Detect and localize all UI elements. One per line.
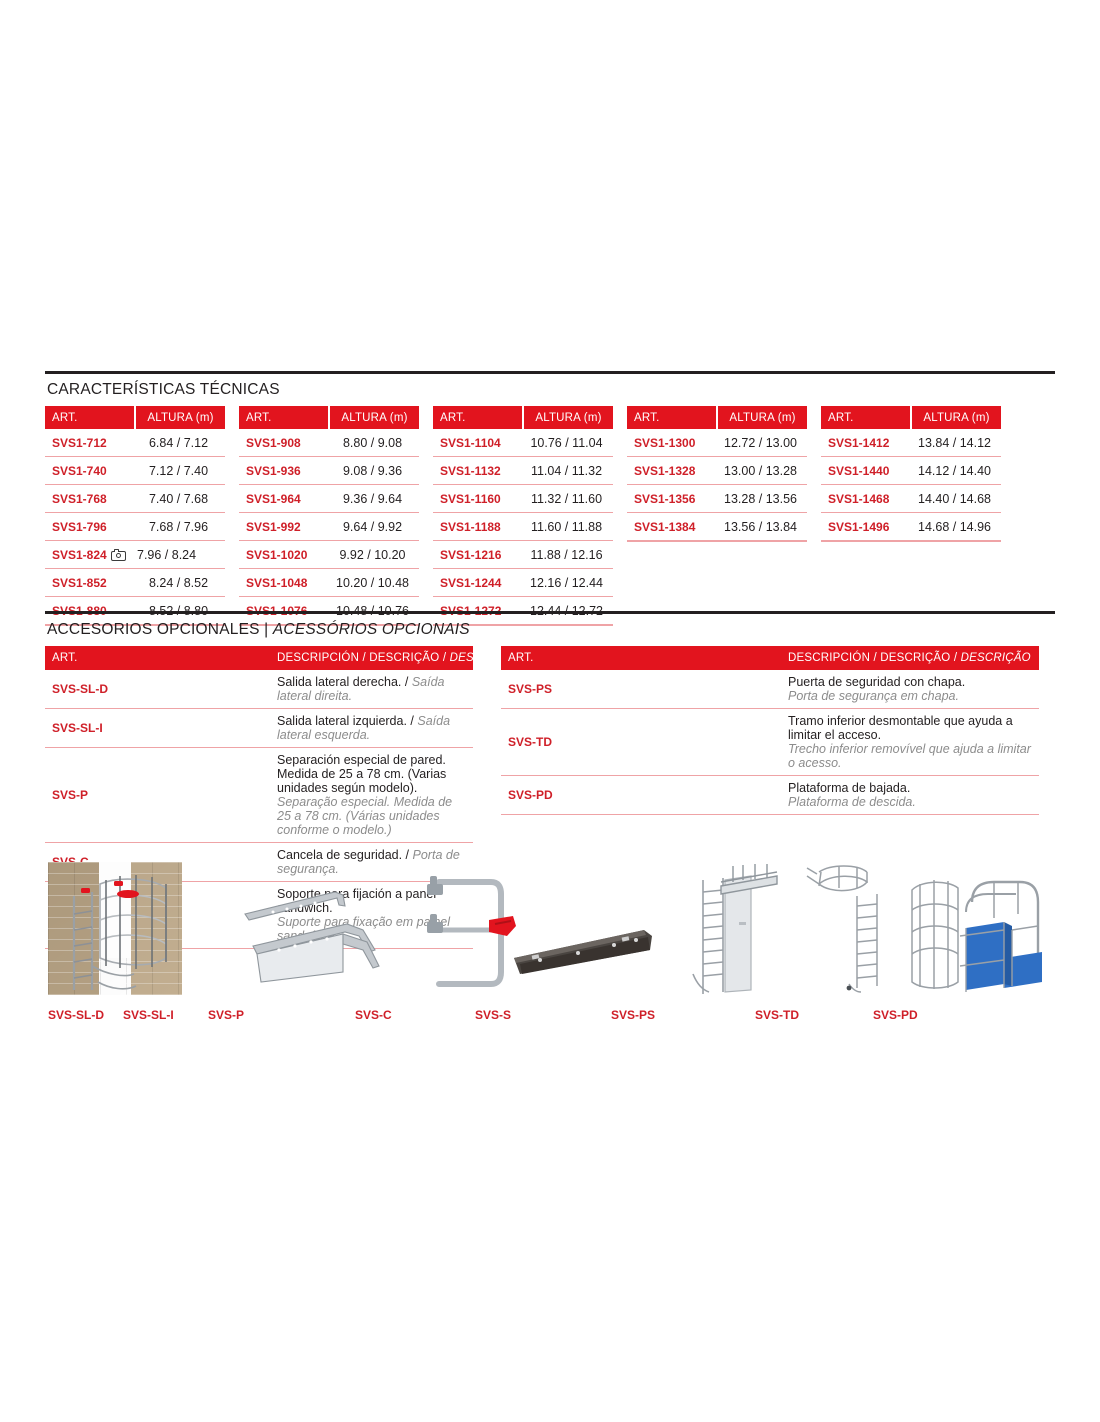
col-header-art: ART. — [45, 406, 135, 429]
caption-svs-ps: SVS-PS — [611, 1008, 655, 1022]
table-row: SVS1-1384 13.56 / 13.84 — [627, 513, 807, 542]
table-row: SVS1-1496 14.68 / 14.96 — [821, 513, 1001, 542]
table-header-row: ART. ALTURA (m) — [239, 406, 419, 429]
table-row: SVS1-1468 14.40 / 14.68 — [821, 485, 1001, 513]
table-header-row: ART. ALTURA (m) — [45, 406, 225, 429]
table-row: SVS1-1328 13.00 / 13.28 — [627, 457, 807, 485]
cell-art: SVS1-964 — [239, 485, 329, 513]
table-row: SVS1-964 9.36 / 9.64 — [239, 485, 419, 513]
cell-description: Separación especial de pared. Medida de … — [259, 748, 473, 843]
cell-art: SVS1-1048 — [239, 569, 329, 597]
caption-svs-c: SVS-C — [355, 1008, 392, 1022]
cell-altura: 12.72 / 13.00 — [717, 429, 807, 457]
cell-art: SVS-PS — [501, 670, 770, 709]
col-header-altura: ALTURA (m) — [717, 406, 807, 429]
figure-side-exit-photo — [48, 862, 182, 995]
cell-art: SVS1-1496 — [821, 513, 911, 542]
figure-captions-row: SVS-SL-D SVS-SL-I SVS-P SVS-C SVS-S SVS-… — [45, 1008, 1055, 1032]
technical-specs-section: CARACTERÍSTICAS TÉCNICAS ART. ALTURA (m)… — [45, 371, 1055, 626]
cell-altura: 13.84 / 14.12 — [911, 429, 1001, 457]
table-row: SVS1-1160 11.32 / 11.60 — [433, 485, 613, 513]
cell-art: SVS1-936 — [239, 457, 329, 485]
figure-wall-spacer — [239, 884, 389, 994]
cell-art: SVS1-1132 — [433, 457, 523, 485]
figure-sandwich-panel-bracket — [510, 924, 655, 974]
cell-art: SVS1-768 — [45, 485, 135, 513]
cage-ladder-illustration — [48, 862, 182, 995]
cell-altura: 7.96 / 8.24 — [135, 541, 225, 569]
cell-description: Salida lateral izquierda. / Saída latera… — [259, 709, 473, 748]
table-header-row: ART. ALTURA (m) — [433, 406, 613, 429]
caption-svs-pd: SVS-PD — [873, 1008, 918, 1022]
col-header-art: ART. — [501, 646, 770, 670]
table-row: SVS1-1048 10.20 / 10.48 — [239, 569, 419, 597]
cell-art: SVS1-1104 — [433, 429, 523, 457]
camera-icon — [111, 549, 126, 561]
col-header-art: ART. — [627, 406, 717, 429]
table-header-row: ART. ALTURA (m) — [821, 406, 1001, 429]
cell-art: SVS1-1188 — [433, 513, 523, 541]
cell-art-with-icon: SVS1-824 — [45, 541, 135, 569]
table-row: SVS-PD Plataforma de bajada.Plataforma d… — [501, 776, 1039, 815]
cell-altura: 9.64 / 9.92 — [329, 513, 419, 541]
table-row: SVS1-740 7.12 / 7.40 — [45, 457, 225, 485]
cell-altura: 8.24 / 8.52 — [135, 569, 225, 597]
table-row: SVS1-1412 13.84 / 14.12 — [821, 429, 1001, 457]
cell-art: SVS1-1356 — [627, 485, 717, 513]
cell-description: Salida lateral derecha. / Saída lateral … — [259, 670, 473, 709]
cell-art: SVS1-1468 — [821, 485, 911, 513]
cell-altura: 11.60 / 11.88 — [523, 513, 613, 541]
table-row: SVS1-768 7.40 / 7.68 — [45, 485, 225, 513]
spec-table-5: ART. ALTURA (m) SVS1-1412 13.84 / 14.12 … — [821, 406, 1001, 542]
technical-specs-title: CARACTERÍSTICAS TÉCNICAS — [45, 374, 1055, 406]
cell-art: SVS-TD — [501, 709, 770, 776]
table-row: SVS1-1020 9.92 / 10.20 — [239, 541, 419, 569]
col-header-altura: ALTURA (m) — [329, 406, 419, 429]
cell-art: SVS1-1216 — [433, 541, 523, 569]
table-row: SVS1-1300 12.72 / 13.00 — [627, 429, 807, 457]
cell-art: SVS-SL-D — [45, 670, 259, 709]
spec-table-2: ART. ALTURA (m) SVS1-908 8.80 / 9.08 SVS… — [239, 406, 419, 626]
cell-altura: 7.40 / 7.68 — [135, 485, 225, 513]
cell-art: SVS1-824 — [52, 548, 107, 562]
table-row: SVS-TD Tramo inferior desmontable que ay… — [501, 709, 1039, 776]
cell-art: SVS1-1020 — [239, 541, 329, 569]
figure-safety-gate — [417, 868, 517, 998]
cell-altura: 9.08 / 9.36 — [329, 457, 419, 485]
figure-safety-door-plate — [681, 862, 791, 1002]
table-header-row: ART. ALTURA (m) — [627, 406, 807, 429]
col-header-descripcion: DESCRIPCIÓN / DESCRIÇÃO / DESCRIÇÃO — [770, 646, 1039, 670]
cell-art: SVS1-1440 — [821, 457, 911, 485]
cell-art: SVS1-712 — [45, 429, 135, 457]
table-header-row: ART. DESCRIPCIÓN / DESCRIÇÃO / DESCRIÇÃO — [501, 646, 1039, 670]
caption-svs-p: SVS-P — [208, 1008, 244, 1022]
col-header-art: ART. — [433, 406, 523, 429]
cell-altura: 10.20 / 10.48 — [329, 569, 419, 597]
cell-description: Puerta de seguridad con chapa.Porta de s… — [770, 670, 1039, 709]
cell-altura: 13.28 / 13.56 — [717, 485, 807, 513]
cell-altura: 11.04 / 11.32 — [523, 457, 613, 485]
col-header-art: ART. — [239, 406, 329, 429]
table-row-with-photo: SVS1-824 7.96 / 8.24 — [45, 541, 225, 569]
cell-altura: 14.12 / 14.40 — [911, 457, 1001, 485]
cell-altura: 11.88 / 12.16 — [523, 541, 613, 569]
cell-altura: 14.40 / 14.68 — [911, 485, 1001, 513]
caption-svs-td: SVS-TD — [755, 1008, 799, 1022]
caption-svs-s: SVS-S — [475, 1008, 511, 1022]
cell-altura: 6.84 / 7.12 — [135, 429, 225, 457]
table-row: SVS1-1188 11.60 / 11.88 — [433, 513, 613, 541]
accessories-table-right: ART. DESCRIPCIÓN / DESCRIÇÃO / DESCRIÇÃO… — [501, 646, 1039, 815]
accessories-title: ACCESORIOS OPCIONALES | ACESSÓRIOS OPCIO… — [45, 614, 1055, 646]
cell-altura: 8.80 / 9.08 — [329, 429, 419, 457]
cell-art: SVS1-1160 — [433, 485, 523, 513]
cell-art: SVS1-992 — [239, 513, 329, 541]
accessories-title-separator: | — [260, 621, 273, 638]
cell-art: SVS-SL-I — [45, 709, 259, 748]
table-row: SVS1-936 9.08 / 9.36 — [239, 457, 419, 485]
cell-art: SVS1-1384 — [627, 513, 717, 542]
cell-altura: 13.56 / 13.84 — [717, 513, 807, 542]
figure-removable-lower-section — [805, 862, 895, 1002]
col-header-altura: ALTURA (m) — [135, 406, 225, 429]
cell-altura: 10.76 / 11.04 — [523, 429, 613, 457]
col-header-descripcion: DESCRIPCIÓN / DESCRIÇÃO / DESCRIÇÃO — [259, 646, 473, 670]
cell-art: SVS1-1300 — [627, 429, 717, 457]
table-row: SVS1-1216 11.88 / 12.16 — [433, 541, 613, 569]
table-row: SVS1-1244 12.16 / 12.44 — [433, 569, 613, 597]
accessories-title-es: ACCESORIOS OPCIONALES — [47, 621, 260, 638]
cell-art: SVS1-796 — [45, 513, 135, 541]
table-row: SVS1-852 8.24 / 8.52 — [45, 569, 225, 597]
col-header-altura: ALTURA (m) — [911, 406, 1001, 429]
table-row: SVS1-1104 10.76 / 11.04 — [433, 429, 613, 457]
cell-description: Tramo inferior desmontable que ayuda a l… — [770, 709, 1039, 776]
table-row: SVS1-712 6.84 / 7.12 — [45, 429, 225, 457]
cell-art: SVS1-1244 — [433, 569, 523, 597]
table-row: SVS1-992 9.64 / 9.92 — [239, 513, 419, 541]
table-row: SVS1-1440 14.12 / 14.40 — [821, 457, 1001, 485]
col-header-art: ART. — [821, 406, 911, 429]
cell-altura: 11.32 / 11.60 — [523, 485, 613, 513]
table-row: SVS-P Separación especial de pared. Medi… — [45, 748, 473, 843]
cell-art: SVS1-740 — [45, 457, 135, 485]
cell-altura: 13.00 / 13.28 — [717, 457, 807, 485]
table-row: SVS1-1356 13.28 / 13.56 — [627, 485, 807, 513]
catalog-page: CARACTERÍSTICAS TÉCNICAS ART. ALTURA (m)… — [45, 0, 1055, 1422]
cell-altura: 7.12 / 7.40 — [135, 457, 225, 485]
col-header-art: ART. — [45, 646, 259, 670]
accessories-title-pt: ACESSÓRIOS OPCIONAIS — [273, 621, 470, 638]
table-row: SVS-SL-D Salida lateral derecha. / Saída… — [45, 670, 473, 709]
cell-art: SVS-P — [45, 748, 259, 843]
table-header-row: ART. DESCRIPCIÓN / DESCRIÇÃO / DESCRIÇÃO — [45, 646, 473, 670]
cell-altura: 12.16 / 12.44 — [523, 569, 613, 597]
spec-table-4: ART. ALTURA (m) SVS1-1300 12.72 / 13.00 … — [627, 406, 807, 542]
cell-art: SVS1-1412 — [821, 429, 911, 457]
cell-altura: 9.36 / 9.64 — [329, 485, 419, 513]
cell-art: SVS1-908 — [239, 429, 329, 457]
figure-descent-platform — [900, 866, 1045, 1001]
spec-table-1: ART. ALTURA (m) SVS1-712 6.84 / 7.12 SVS… — [45, 406, 225, 626]
table-row: SVS1-908 8.80 / 9.08 — [239, 429, 419, 457]
cell-altura: 7.68 / 7.96 — [135, 513, 225, 541]
cell-description: Plataforma de bajada.Plataforma de desci… — [770, 776, 1039, 815]
caption-svs-sl-i: SVS-SL-I — [123, 1008, 174, 1022]
col-header-altura: ALTURA (m) — [523, 406, 613, 429]
cell-art: SVS1-1328 — [627, 457, 717, 485]
cell-altura: 9.92 / 10.20 — [329, 541, 419, 569]
cell-altura: 14.68 / 14.96 — [911, 513, 1001, 542]
cell-art: SVS-PD — [501, 776, 770, 815]
table-row: SVS1-1132 11.04 / 11.32 — [433, 457, 613, 485]
table-row: SVS1-796 7.68 / 7.96 — [45, 513, 225, 541]
cell-art: SVS1-852 — [45, 569, 135, 597]
caption-svs-sl-d: SVS-SL-D — [48, 1008, 104, 1022]
technical-specs-tables: ART. ALTURA (m) SVS1-712 6.84 / 7.12 SVS… — [45, 406, 1055, 626]
table-row: SVS-SL-I Salida lateral izquierda. / Saí… — [45, 709, 473, 748]
table-row: SVS-PS Puerta de seguridad con chapa.Por… — [501, 670, 1039, 709]
spec-table-3: ART. ALTURA (m) SVS1-1104 10.76 / 11.04 … — [433, 406, 613, 626]
